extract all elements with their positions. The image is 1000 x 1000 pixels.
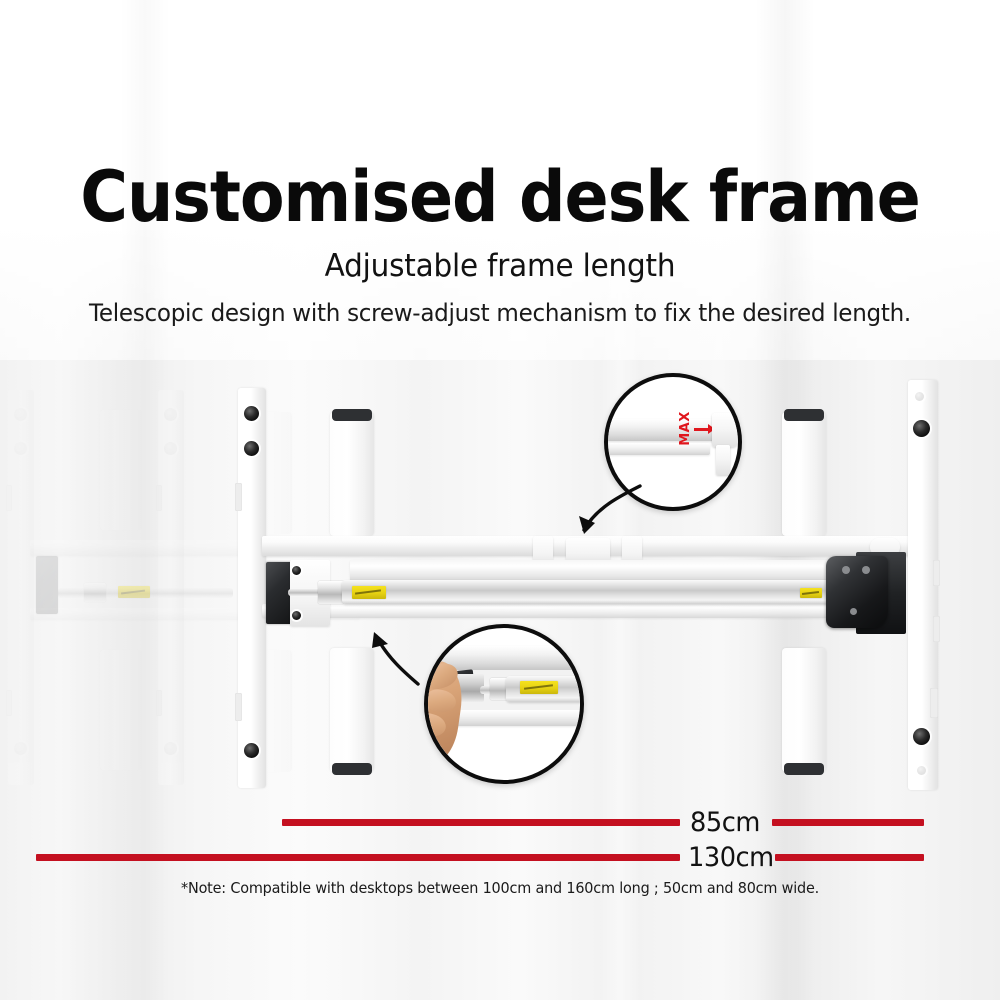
right-leg	[908, 380, 938, 790]
tube-warning-label-right	[800, 588, 822, 598]
measure-line-85-right	[772, 819, 924, 826]
foot-cap-upper-right	[784, 409, 824, 421]
telescopic-inner-tube	[342, 580, 834, 604]
measure-label-85: 85cm	[690, 808, 760, 838]
ghost-adjust-nut	[84, 583, 106, 602]
max-label-text: MAX	[678, 411, 693, 446]
callout-rail-endcap-stem	[716, 445, 730, 475]
motor-bolt-c	[850, 608, 857, 615]
hand-callout-warning-label	[520, 681, 558, 694]
right-foot-upper	[782, 412, 826, 536]
callout-arrow-screw-adjust	[352, 612, 462, 702]
ghost-warning-label	[118, 586, 150, 598]
foot-cap-upper-left	[332, 409, 372, 421]
measure-label-130: 130cm	[688, 843, 774, 873]
bracket-bolt-top	[292, 566, 301, 575]
motor-bolt-a	[842, 566, 850, 574]
adjust-nut	[318, 581, 344, 604]
product-marketing-image: Customised desk frame Adjustable frame l…	[0, 0, 1000, 1000]
measure-line-85-left	[282, 819, 680, 826]
compatibility-note: *Note: Compatible with desktops between …	[20, 878, 980, 898]
ghost-leg-far-left	[8, 390, 34, 785]
motor-bolt-b	[862, 566, 870, 574]
ghost-foot-far-left-lower	[100, 650, 142, 770]
measurement-row-85: 85cm	[0, 808, 1000, 838]
tube-warning-label	[352, 586, 386, 599]
telescopic-outer-rail	[350, 560, 870, 582]
motor-gearbox	[826, 556, 888, 628]
callout-rail-endcap	[712, 413, 738, 447]
foot-cap-lower-right	[784, 763, 824, 775]
foot-cap-lower-left	[332, 763, 372, 775]
measurement-row-130: 130cm	[0, 843, 1000, 873]
left-leg	[238, 388, 266, 788]
left-foot-upper	[330, 412, 374, 536]
measure-line-130-right	[775, 854, 924, 861]
ghost-foot-far-left	[100, 410, 142, 530]
ghost-mount-bracket	[36, 556, 58, 614]
measure-line-130-left	[36, 854, 680, 861]
callout-arrow-max	[548, 470, 658, 560]
bracket-bolt-bottom	[292, 611, 301, 620]
right-foot-lower	[782, 648, 826, 772]
